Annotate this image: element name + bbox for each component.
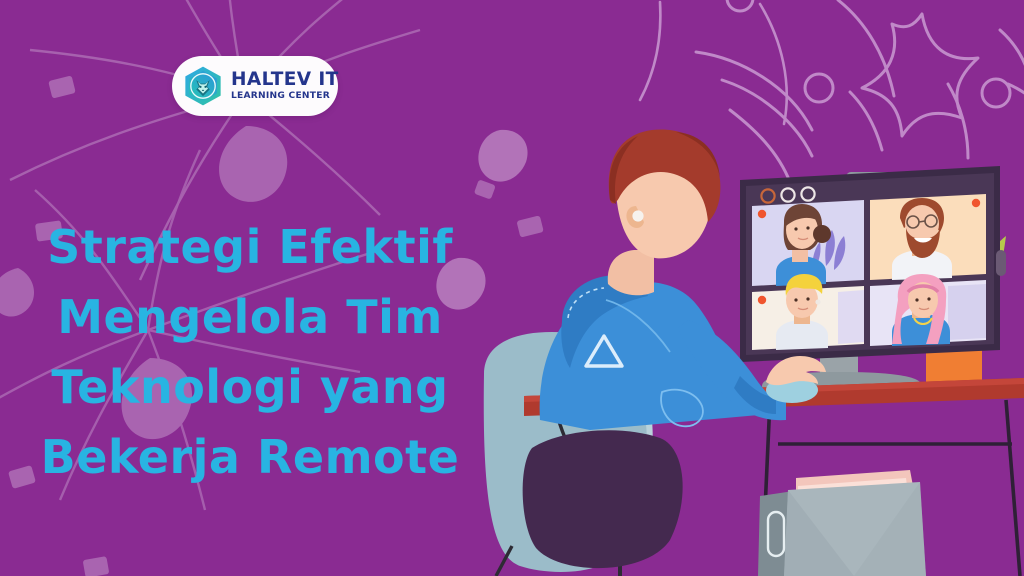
hexagon-fox-logo-icon <box>182 65 224 107</box>
logo-title: HALTEV IT <box>231 71 339 90</box>
headline-text: Strategi Efektif Mengelola Tim Teknologi… <box>0 212 500 492</box>
remote-video-call-workspace-illustration <box>440 0 1024 576</box>
rec-dot <box>758 296 766 304</box>
call-tile-top-left <box>752 200 864 286</box>
monitor-side-button <box>996 250 1006 276</box>
logo-pill[interactable]: HALTEV IT LEARNING CENTER <box>172 56 338 116</box>
call-tile-top-right <box>870 194 986 280</box>
logo-subtitle: LEARNING CENTER <box>231 92 339 101</box>
laptop-bag <box>758 470 926 576</box>
banner-root: HALTEV IT LEARNING CENTER Strategi Efekt… <box>0 0 1024 576</box>
rec-dot <box>758 210 766 218</box>
rec-dot <box>972 199 980 207</box>
